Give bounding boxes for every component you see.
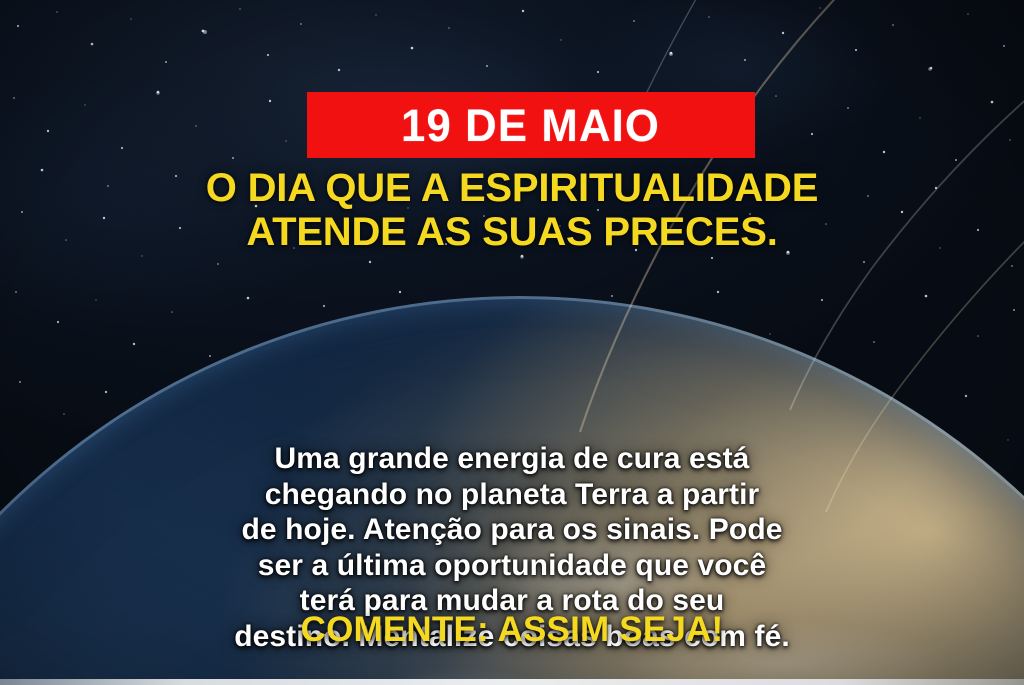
body-line-4: ser a última oportunidade que você <box>57 548 967 584</box>
date-banner-label: 19 DE MAIO <box>401 103 660 148</box>
headline-line-2: ATENDE AS SUAS PRECES. <box>62 210 962 254</box>
body-line-2: chegando no planeta Terra a partir <box>57 477 967 513</box>
poster-canvas: 19 DE MAIO O DIA QUE A ESPIRITUALIDADE A… <box>0 0 1024 685</box>
date-banner: 19 DE MAIO <box>307 92 755 158</box>
bottom-edge-strip <box>0 679 1024 685</box>
call-to-action-text: COMENTE: ASSIM SEJA! <box>62 612 962 649</box>
body-line-1: Uma grande energia de cura está <box>57 441 967 477</box>
headline-line-1: O DIA QUE A ESPIRITUALIDADE <box>62 166 962 210</box>
poster-content: 19 DE MAIO O DIA QUE A ESPIRITUALIDADE A… <box>0 0 1024 685</box>
body-line-3: de hoje. Atenção para os sinais. Pode <box>57 512 967 548</box>
headline: O DIA QUE A ESPIRITUALIDADE ATENDE AS SU… <box>62 166 962 254</box>
